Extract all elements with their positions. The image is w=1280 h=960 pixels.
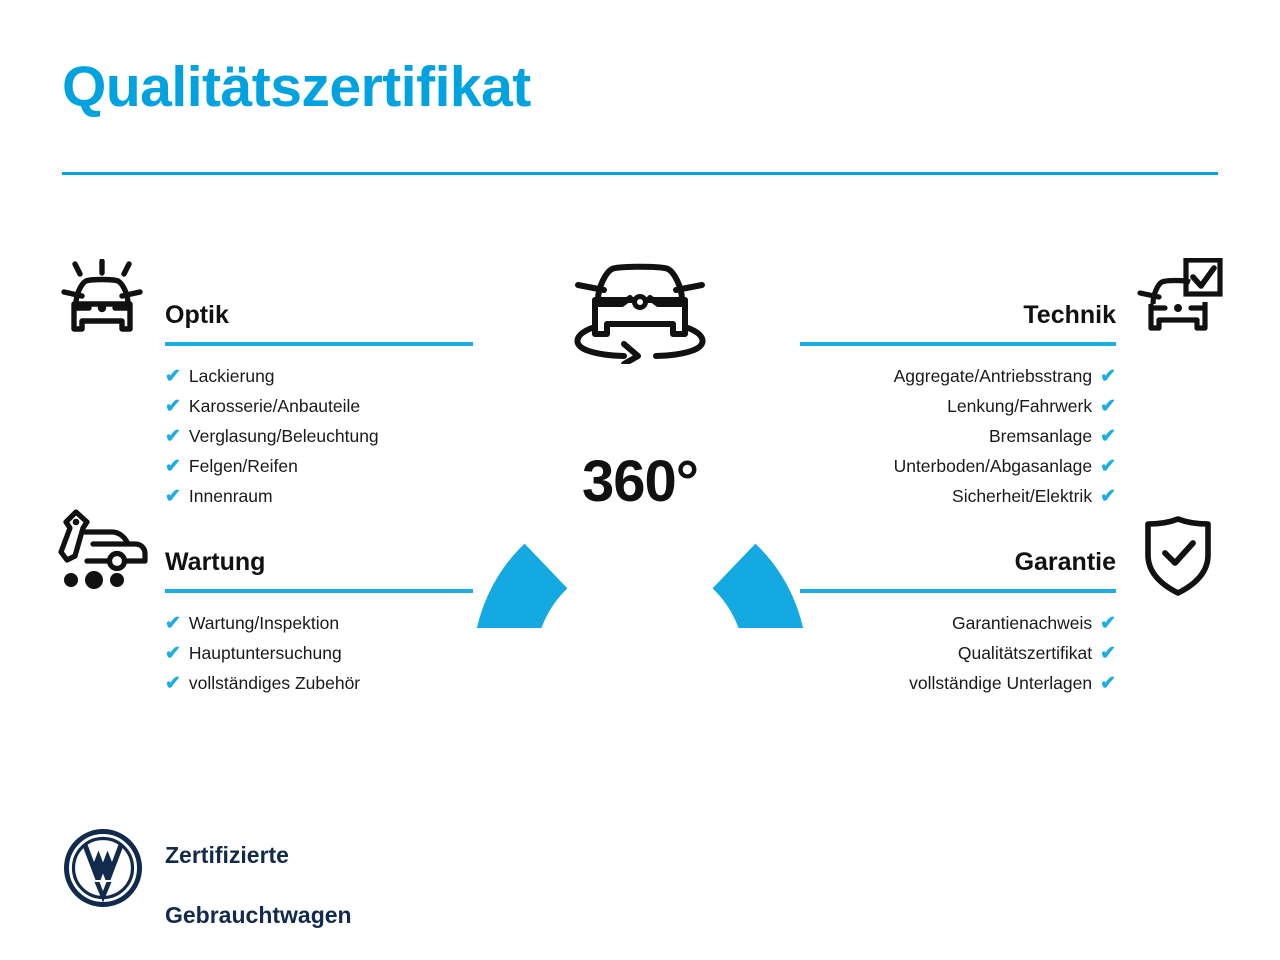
- list-item: ✔Lackierung: [165, 361, 473, 391]
- list-item-label: Aggregate/Antriebsstrang: [894, 361, 1092, 391]
- list-item: ✔Verglasung/Beleuchtung: [165, 421, 473, 451]
- section-divider-technik: [800, 342, 1116, 346]
- section-technik: Technik Aggregate/Antriebsstrang✔Lenkung…: [800, 298, 1116, 511]
- check-icon: ✔: [165, 397, 181, 416]
- check-icon: ✔: [165, 487, 181, 506]
- car-rotate-360-icon: [562, 252, 718, 369]
- check-icon: ✔: [1100, 614, 1116, 633]
- list-item-label: Felgen/Reifen: [189, 451, 298, 481]
- check-icon: ✔: [1100, 367, 1116, 386]
- check-icon: ✔: [1100, 674, 1116, 693]
- checklist-garantie: Garantienachweis✔Qualitätszertifikat✔vol…: [800, 608, 1116, 698]
- list-item-label: Qualitätszertifikat: [958, 638, 1092, 668]
- checklist-wartung: ✔Wartung/Inspektion✔Hauptuntersuchung✔vo…: [165, 608, 473, 698]
- list-item-label: Unterboden/Abgasanlage: [894, 451, 1093, 481]
- list-item: ✔Innenraum: [165, 481, 473, 511]
- check-icon: ✔: [165, 367, 181, 386]
- check-icon: ✔: [1100, 644, 1116, 663]
- list-item: Qualitätszertifikat✔: [800, 638, 1116, 668]
- list-item-label: vollständiges Zubehör: [189, 668, 360, 698]
- car-checkbox-icon: [1135, 258, 1223, 345]
- check-icon: ✔: [165, 674, 181, 693]
- check-icon: ✔: [165, 457, 181, 476]
- badge-360-check: Gebrauchtwagen-Check 360°: [462, 252, 818, 628]
- check-icon: ✔: [1100, 457, 1116, 476]
- section-title-technik: Technik: [800, 298, 1116, 332]
- check-icon: ✔: [1100, 487, 1116, 506]
- section-header-wartung: Wartung: [165, 545, 473, 593]
- list-item: Unterboden/Abgasanlage✔: [800, 451, 1116, 481]
- section-title-optik: Optik: [165, 298, 473, 332]
- check-icon: ✔: [165, 644, 181, 663]
- section-header-technik: Technik: [800, 298, 1116, 346]
- list-item: ✔Karosserie/Anbauteile: [165, 391, 473, 421]
- list-item-label: Verglasung/Beleuchtung: [189, 421, 379, 451]
- list-item: ✔Hauptuntersuchung: [165, 638, 473, 668]
- list-item: Sicherheit/Elektrik✔: [800, 481, 1116, 511]
- section-wartung: Wartung ✔Wartung/Inspektion✔Hauptuntersu…: [165, 545, 473, 698]
- list-item: ✔Felgen/Reifen: [165, 451, 473, 481]
- section-divider-optik: [165, 342, 473, 346]
- section-title-garantie: Garantie: [800, 545, 1116, 579]
- list-item: Bremsanlage✔: [800, 421, 1116, 451]
- car-service-tool-icon: [57, 508, 149, 595]
- page-title: Qualitätszertifikat: [62, 58, 531, 118]
- list-item-label: Garantienachweis: [952, 608, 1092, 638]
- list-item-label: Karosserie/Anbauteile: [189, 391, 360, 421]
- list-item: vollständige Unterlagen✔: [800, 668, 1116, 698]
- badge-center-value: 360°: [462, 448, 818, 515]
- check-icon: ✔: [1100, 427, 1116, 446]
- section-optik: Optik ✔Lackierung✔Karosserie/Anbauteile✔…: [165, 298, 473, 511]
- vw-brand-block: Zertifizierte Gebrauchtwagen: [63, 810, 352, 930]
- vw-wordmark-line2: Gebrauchtwagen: [165, 902, 352, 928]
- list-item: Aggregate/Antriebsstrang✔: [800, 361, 1116, 391]
- car-shine-icon: [60, 259, 144, 350]
- list-item-label: Bremsanlage: [989, 421, 1092, 451]
- section-divider-garantie: [800, 589, 1116, 593]
- shield-check-icon: [1142, 515, 1214, 602]
- list-item: Lenkung/Fahrwerk✔: [800, 391, 1116, 421]
- list-item-label: Wartung/Inspektion: [189, 608, 339, 638]
- title-divider: [62, 172, 1218, 175]
- list-item: Garantienachweis✔: [800, 608, 1116, 638]
- check-icon: ✔: [165, 614, 181, 633]
- list-item-label: vollständige Unterlagen: [909, 668, 1092, 698]
- list-item: ✔Wartung/Inspektion: [165, 608, 473, 638]
- checklist-technik: Aggregate/Antriebsstrang✔Lenkung/Fahrwer…: [800, 361, 1116, 511]
- list-item: ✔vollständiges Zubehör: [165, 668, 473, 698]
- section-header-garantie: Garantie: [800, 545, 1116, 593]
- list-item-label: Innenraum: [189, 481, 273, 511]
- vw-wordmark: Zertifizierte Gebrauchtwagen: [165, 810, 352, 930]
- vw-logo: [63, 828, 143, 913]
- check-icon: ✔: [1100, 397, 1116, 416]
- check-icon: ✔: [165, 427, 181, 446]
- section-divider-wartung: [165, 589, 473, 593]
- section-garantie: Garantie Garantienachweis✔Qualitätszerti…: [800, 545, 1116, 698]
- list-item-label: Sicherheit/Elektrik: [952, 481, 1092, 511]
- list-item-label: Lackierung: [189, 361, 275, 391]
- list-item-label: Lenkung/Fahrwerk: [947, 391, 1092, 421]
- section-header-optik: Optik: [165, 298, 473, 346]
- section-title-wartung: Wartung: [165, 545, 473, 579]
- vw-wordmark-line1: Zertifizierte: [165, 842, 289, 868]
- list-item-label: Hauptuntersuchung: [189, 638, 342, 668]
- checklist-optik: ✔Lackierung✔Karosserie/Anbauteile✔Vergla…: [165, 361, 473, 511]
